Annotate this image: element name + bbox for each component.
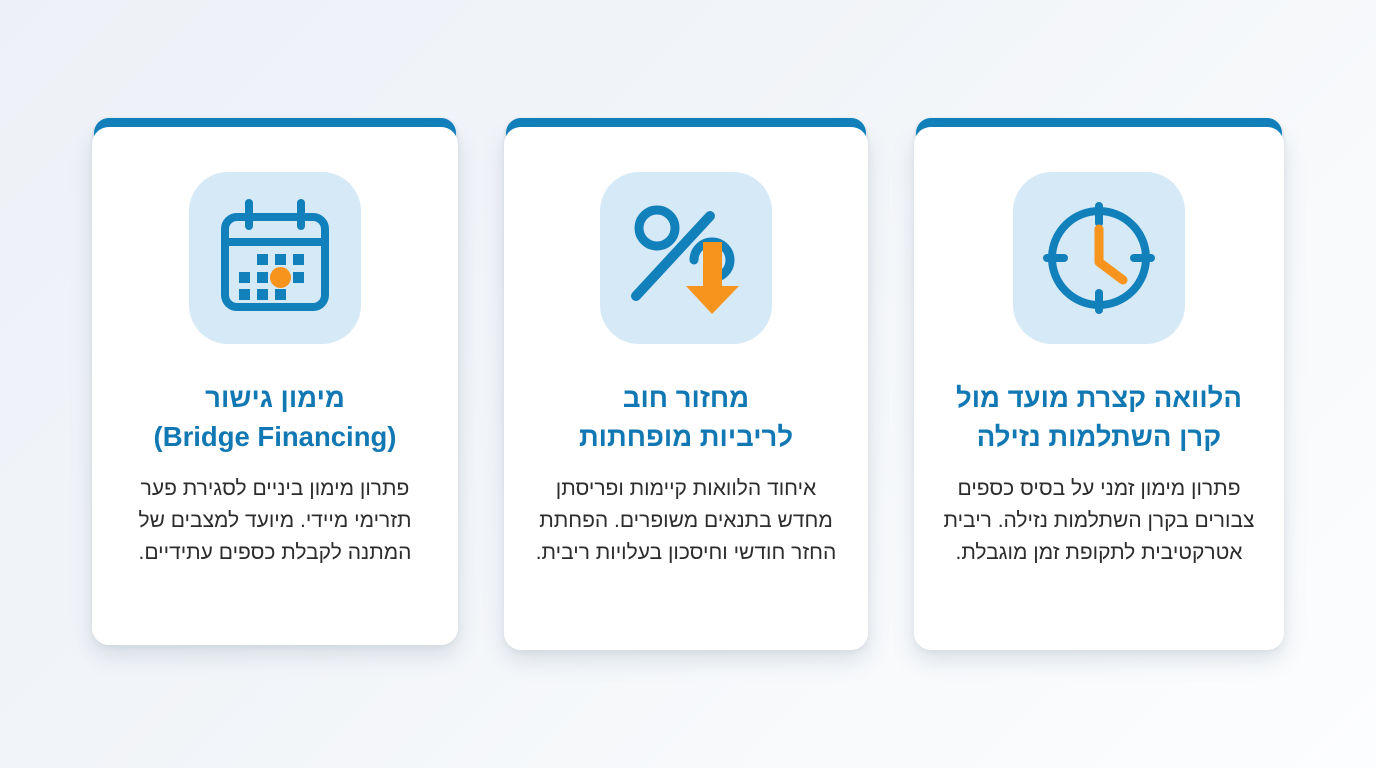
card-bridge-financing[interactable]: מימון גישור (Bridge Financing) פתרון מימ…	[92, 118, 458, 645]
card-surface: מימון גישור (Bridge Financing) פתרון מימ…	[92, 127, 458, 645]
card-surface: מחזור חוב לריביות מופחתות איחוד הלוואות …	[504, 127, 868, 650]
cards-row: הלוואה קצרת מועד מול קרן השתלמות נזילה פ…	[92, 118, 1284, 650]
icon-tile	[1013, 172, 1185, 344]
percent-down-arrow-icon	[624, 196, 748, 320]
page-root: הלוואה קצרת מועד מול קרן השתלמות נזילה פ…	[0, 0, 1376, 768]
card-description: פתרון מימון זמני על בסיס כספים צבורים בק…	[940, 473, 1258, 569]
card-surface: הלוואה קצרת מועד מול קרן השתלמות נזילה פ…	[914, 127, 1284, 650]
icon-tile	[600, 172, 772, 344]
card-description: פתרון מימון ביניים לסגירת פער תזרימי מיי…	[118, 473, 432, 569]
card-short-term-loan[interactable]: הלוואה קצרת מועד מול קרן השתלמות נזילה פ…	[914, 118, 1284, 650]
card-description: איחוד הלוואות קיימות ופריסתן מחדש בתנאים…	[530, 473, 842, 569]
clock-icon	[1037, 196, 1161, 320]
card-title: הלוואה קצרת מועד מול קרן השתלמות נזילה	[940, 378, 1258, 456]
icon-tile	[189, 172, 361, 344]
card-debt-refinancing[interactable]: מחזור חוב לריביות מופחתות איחוד הלוואות …	[504, 118, 868, 650]
card-title: מחזור חוב לריביות מופחתות	[530, 378, 842, 456]
calendar-icon	[213, 196, 337, 320]
card-title: מימון גישור (Bridge Financing)	[118, 378, 432, 456]
